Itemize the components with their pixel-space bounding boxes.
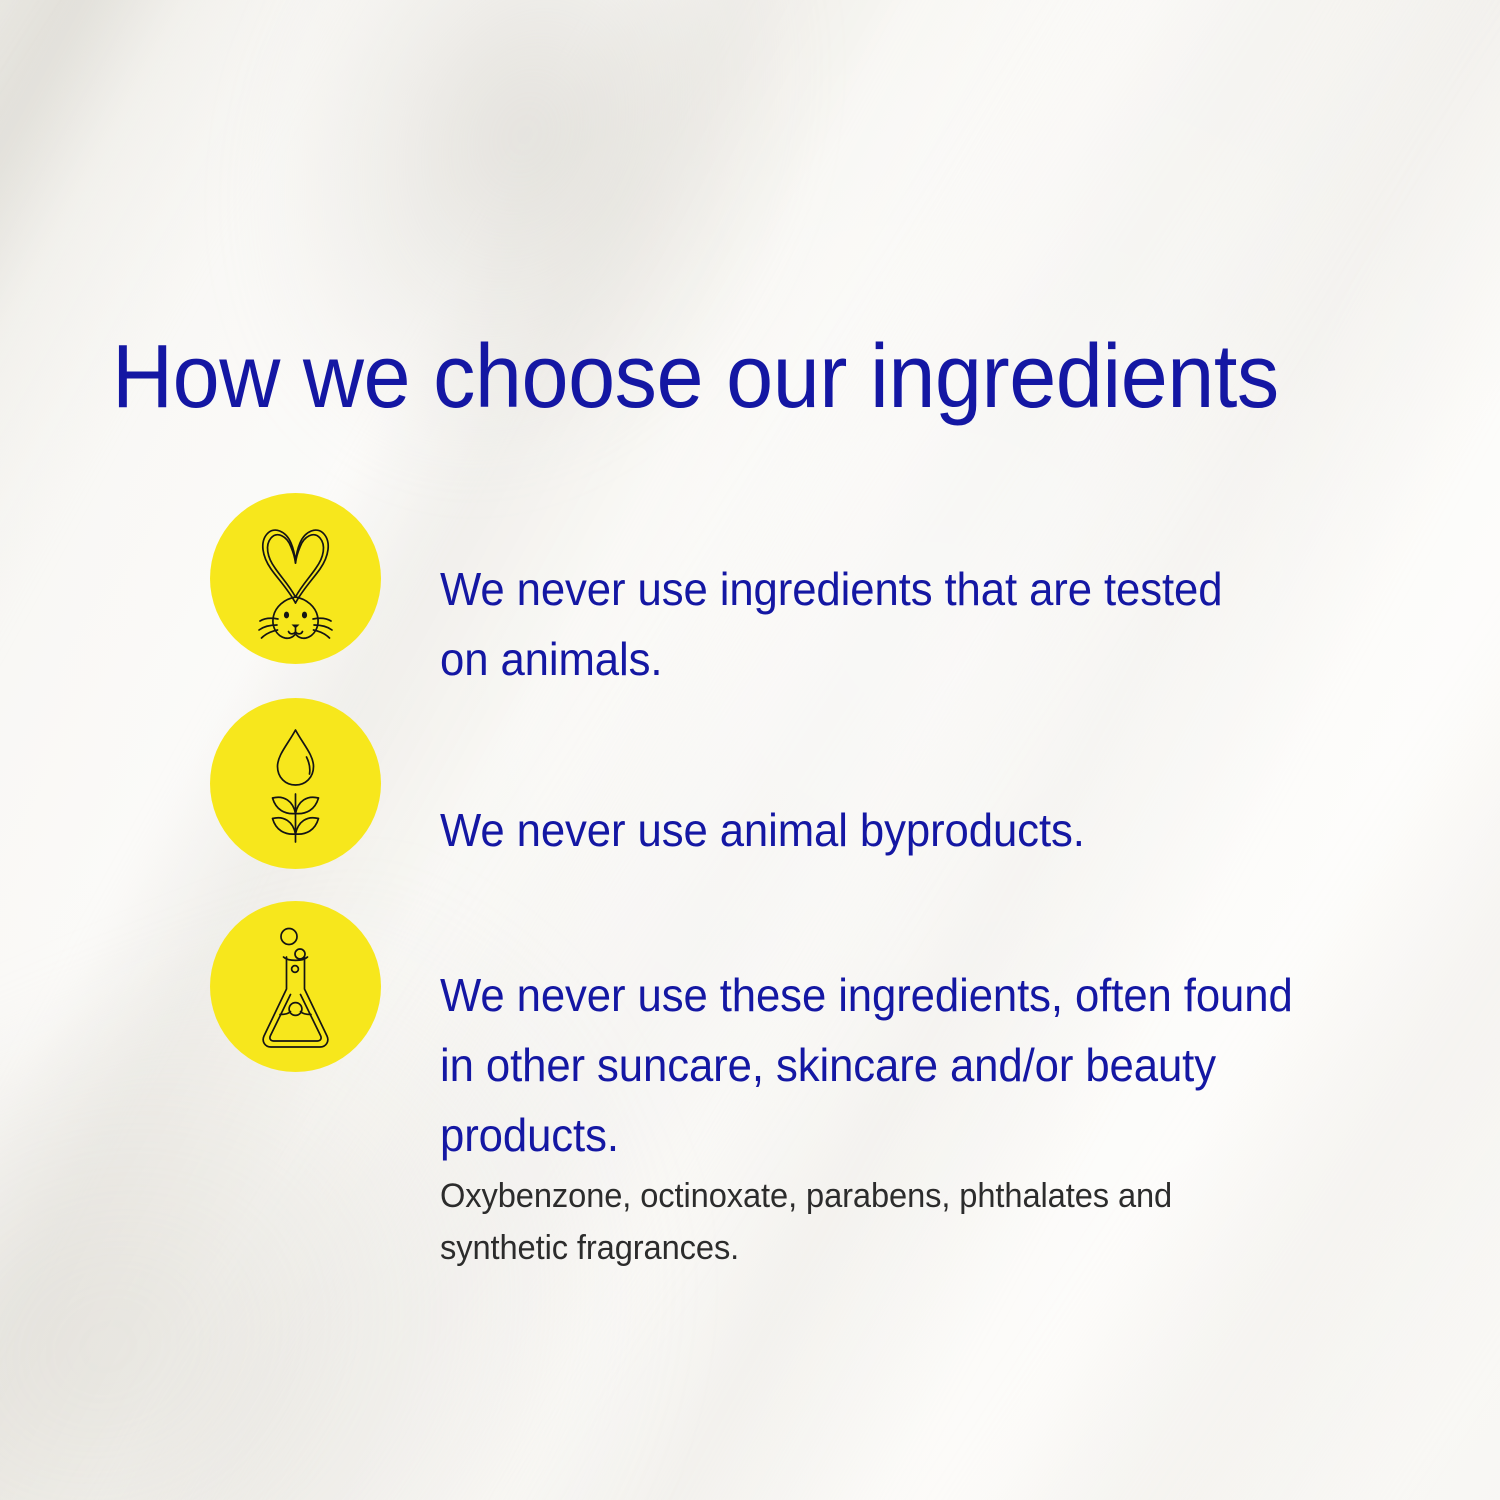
page-title: How we choose our ingredients <box>112 332 1279 424</box>
list-item-label: We never use ingredients that are tested… <box>440 555 1229 695</box>
droplet-plant-icon <box>210 698 381 869</box>
list-item-label: We never use animal byproducts. <box>440 796 1229 866</box>
list-item-label: We never use these ingredients, often fo… <box>440 961 1324 1171</box>
ingredients-promise-card: How we choose our ingredients <box>0 0 1500 1500</box>
erlenmeyer-flask-icon <box>210 901 381 1072</box>
content-layer: How we choose our ingredients <box>0 0 1500 1500</box>
list-item-sublabel: Oxybenzone, octinoxate, parabens, phthal… <box>440 1171 1227 1274</box>
bunny-heart-ears-icon <box>210 493 381 664</box>
